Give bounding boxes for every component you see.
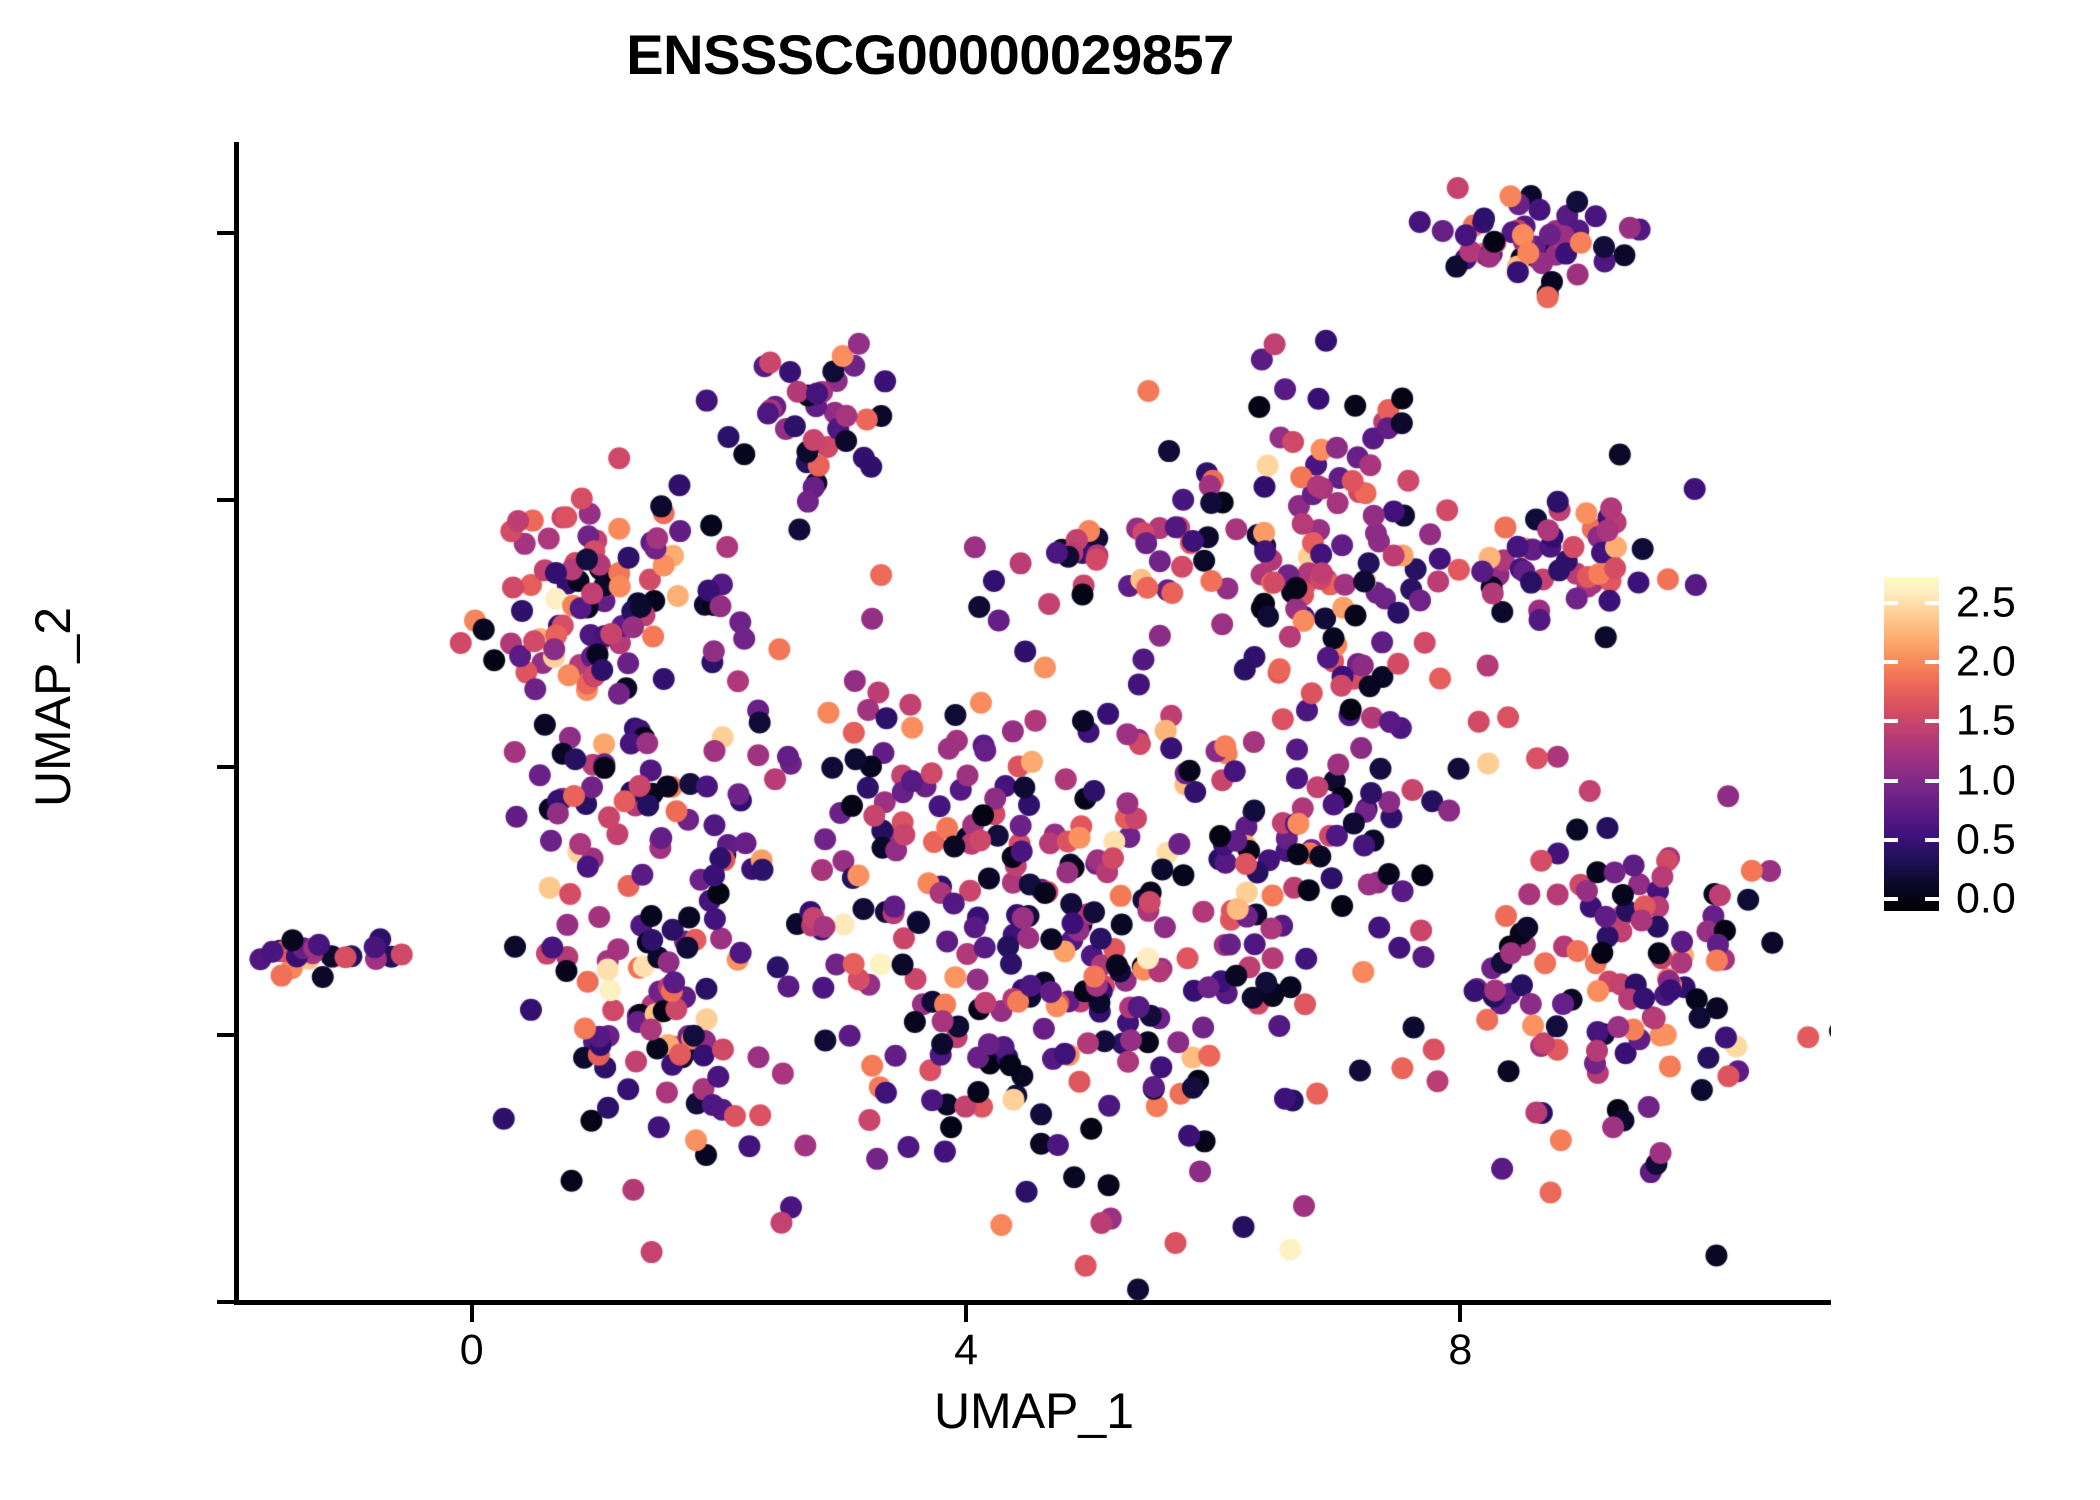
y-axis-title: UMAP_2	[24, 357, 82, 1057]
x-tick-label: 8	[1448, 1326, 1472, 1375]
y-tick-mark	[217, 498, 234, 502]
x-tick-mark	[964, 1305, 968, 1322]
x-tick-label: 4	[954, 1326, 978, 1375]
x-tick-label: 0	[460, 1326, 484, 1375]
x-axis-title: UMAP_1	[237, 1382, 1831, 1440]
scatter-points-canvas	[237, 142, 1831, 1302]
x-tick-mark	[470, 1305, 474, 1322]
y-tick-mark	[217, 765, 234, 769]
x-tick-mark	[1458, 1305, 1462, 1322]
colorbar-tick-label: 1.5	[1956, 697, 2016, 746]
colorbar-legend: 2.52.01.51.00.50.0	[1884, 577, 2084, 917]
colorbar-tick-label: 2.0	[1956, 638, 2016, 687]
umap-feature-plot: ENSSSCG00000029857 -2.50.02.55.07.5 048 …	[0, 0, 2100, 1500]
colorbar-tick-label: 0.5	[1956, 815, 2016, 864]
y-tick-mark	[217, 1033, 234, 1037]
plot-panel	[237, 142, 1831, 1302]
colorbar-tick-label: 0.0	[1956, 875, 2016, 924]
colorbar-tick-label: 2.5	[1956, 579, 2016, 628]
y-tick-mark	[217, 1300, 234, 1304]
y-axis-line	[234, 142, 239, 1305]
page-title: ENSSSCG00000029857	[0, 22, 1860, 87]
colorbar-gradient	[1884, 577, 1939, 911]
y-tick-mark	[217, 231, 234, 235]
colorbar-canvas	[1884, 577, 1939, 911]
colorbar-tick-label: 1.0	[1956, 756, 2016, 805]
